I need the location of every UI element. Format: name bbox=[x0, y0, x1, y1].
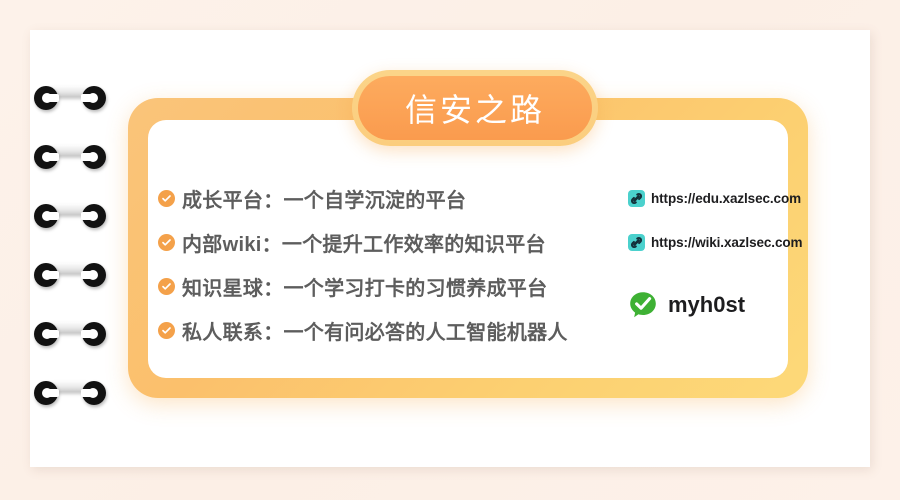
check-circle-icon bbox=[158, 278, 175, 295]
ring-left-loop bbox=[34, 86, 58, 110]
binder-ring-icon bbox=[34, 202, 106, 228]
link-url: https://edu.xazlsec.com bbox=[651, 191, 801, 206]
binder-ring-icon bbox=[34, 143, 106, 169]
check-circle-icon bbox=[158, 234, 175, 251]
contact-row[interactable]: myh0st bbox=[628, 278, 808, 332]
binder-rings bbox=[34, 84, 114, 414]
list-item-label: 成长平台：一个自学沉淀的平台 bbox=[182, 184, 466, 213]
ring-right-loop bbox=[82, 381, 106, 405]
binder-ring-icon bbox=[34, 261, 106, 287]
ring-left-loop bbox=[34, 204, 58, 228]
link-chain-icon bbox=[628, 190, 645, 207]
ring-left-loop bbox=[34, 263, 58, 287]
link-row[interactable]: https://wiki.xazlsec.com bbox=[628, 220, 808, 264]
title-pill: 信安之路 bbox=[352, 70, 598, 146]
link-row[interactable]: https://edu.xazlsec.com bbox=[628, 176, 808, 220]
binder-ring-icon bbox=[34, 84, 106, 110]
check-circle-icon bbox=[158, 190, 175, 207]
contact-name: myh0st bbox=[668, 292, 745, 318]
ring-left-loop bbox=[34, 322, 58, 346]
ring-right-loop bbox=[82, 204, 106, 228]
link-chain-icon bbox=[628, 234, 645, 251]
wechat-check-bubble-icon bbox=[628, 290, 658, 320]
list-item-label: 知识星球：一个学习打卡的习惯养成平台 bbox=[182, 272, 547, 301]
link-url: https://wiki.xazlsec.com bbox=[651, 235, 802, 250]
list-item-label: 内部wiki：一个提升工作效率的知识平台 bbox=[182, 228, 546, 257]
ring-left-loop bbox=[34, 381, 58, 405]
ring-left-loop bbox=[34, 145, 58, 169]
list-item-label: 私人联系：一个有问必答的人工智能机器人 bbox=[182, 316, 568, 345]
page-title: 信安之路 bbox=[405, 85, 545, 131]
side-links: https://edu.xazlsec.com https://wiki.xaz… bbox=[628, 176, 808, 332]
ring-right-loop bbox=[82, 145, 106, 169]
check-circle-icon bbox=[158, 322, 175, 339]
title-pill-inner: 信安之路 bbox=[358, 76, 592, 140]
ring-right-loop bbox=[82, 263, 106, 287]
binder-ring-icon bbox=[34, 320, 106, 346]
ring-right-loop bbox=[82, 86, 106, 110]
ring-right-loop bbox=[82, 322, 106, 346]
binder-ring-icon bbox=[34, 379, 106, 405]
